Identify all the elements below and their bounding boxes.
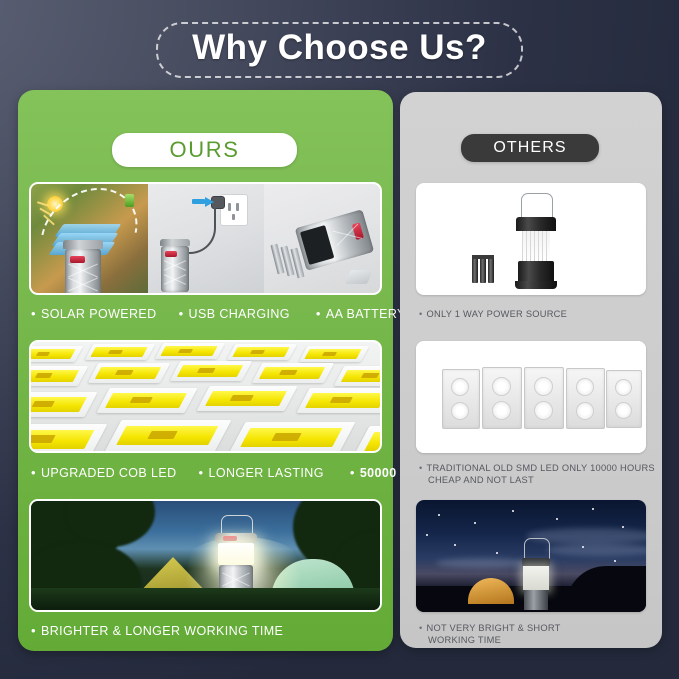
others-badge: OTHERS (461, 134, 599, 162)
solar-lantern (61, 240, 105, 293)
caption-item: •AA BATTERY (316, 307, 406, 321)
hours-value: 50000 (360, 466, 397, 480)
cob-led-array-photo (29, 340, 382, 453)
smd-led-strip-photo (416, 341, 646, 453)
caption-item: •BRIGHTER & LONGER WORKING TIME (31, 624, 283, 638)
aa-battery-illustration (264, 184, 380, 293)
caption-item: •UPGRADED COB LED (31, 466, 177, 480)
black-lantern-batteries-photo (416, 183, 646, 295)
battery-cover (345, 270, 373, 284)
ours-caption-row-3: •BRIGHTER & LONGER WORKING TIME (31, 624, 383, 638)
page-title-badge: Why Choose Us? (156, 22, 523, 78)
others-badge-label: OTHERS (493, 139, 566, 157)
solar-cell-chip-icon (125, 194, 134, 207)
charge-arrow-head (205, 197, 214, 207)
others-caption-2: •TRADITIONAL OLD SMD LED ONLY 10000 HOUR… (419, 462, 655, 487)
caption-item: •USB CHARGING (179, 307, 290, 321)
ours-caption-row-1: •SOLAR POWERED •USB CHARGING •AA BATTERY (31, 307, 383, 321)
usb-lantern (158, 239, 192, 292)
others-caption-3: •NOT VERY BRIGHT & SHORT WORKING TIME (419, 622, 655, 647)
competitor-lantern (508, 193, 564, 289)
ours-badge-label: OURS (170, 137, 240, 163)
power-sources-photo (29, 182, 382, 295)
competitor-batteries (472, 255, 502, 285)
usb-charging-illustration (148, 184, 264, 293)
night-sky-lantern-photo (416, 500, 646, 612)
solar-powered-illustration (31, 184, 148, 293)
ours-caption-row-2: •UPGRADED COB LED •LONGER LASTING •50000… (31, 466, 383, 480)
page-title-wrapper: Why Choose Us? (0, 22, 679, 78)
others-caption-1: •ONLY 1 WAY POWER SOURCE (419, 308, 655, 320)
comparison-infographic: Why Choose Us? OURS (0, 0, 679, 679)
caption-item: •LONGER LASTING (199, 466, 324, 480)
page-title: Why Choose Us? (192, 30, 487, 67)
ours-badge: OURS (112, 133, 297, 167)
competitor-lantern-dim (516, 538, 556, 610)
camping-night-photo (29, 499, 382, 612)
battery-compartment-lantern (295, 209, 376, 274)
charge-arrow (192, 199, 205, 204)
caption-item: •SOLAR POWERED (31, 307, 157, 321)
